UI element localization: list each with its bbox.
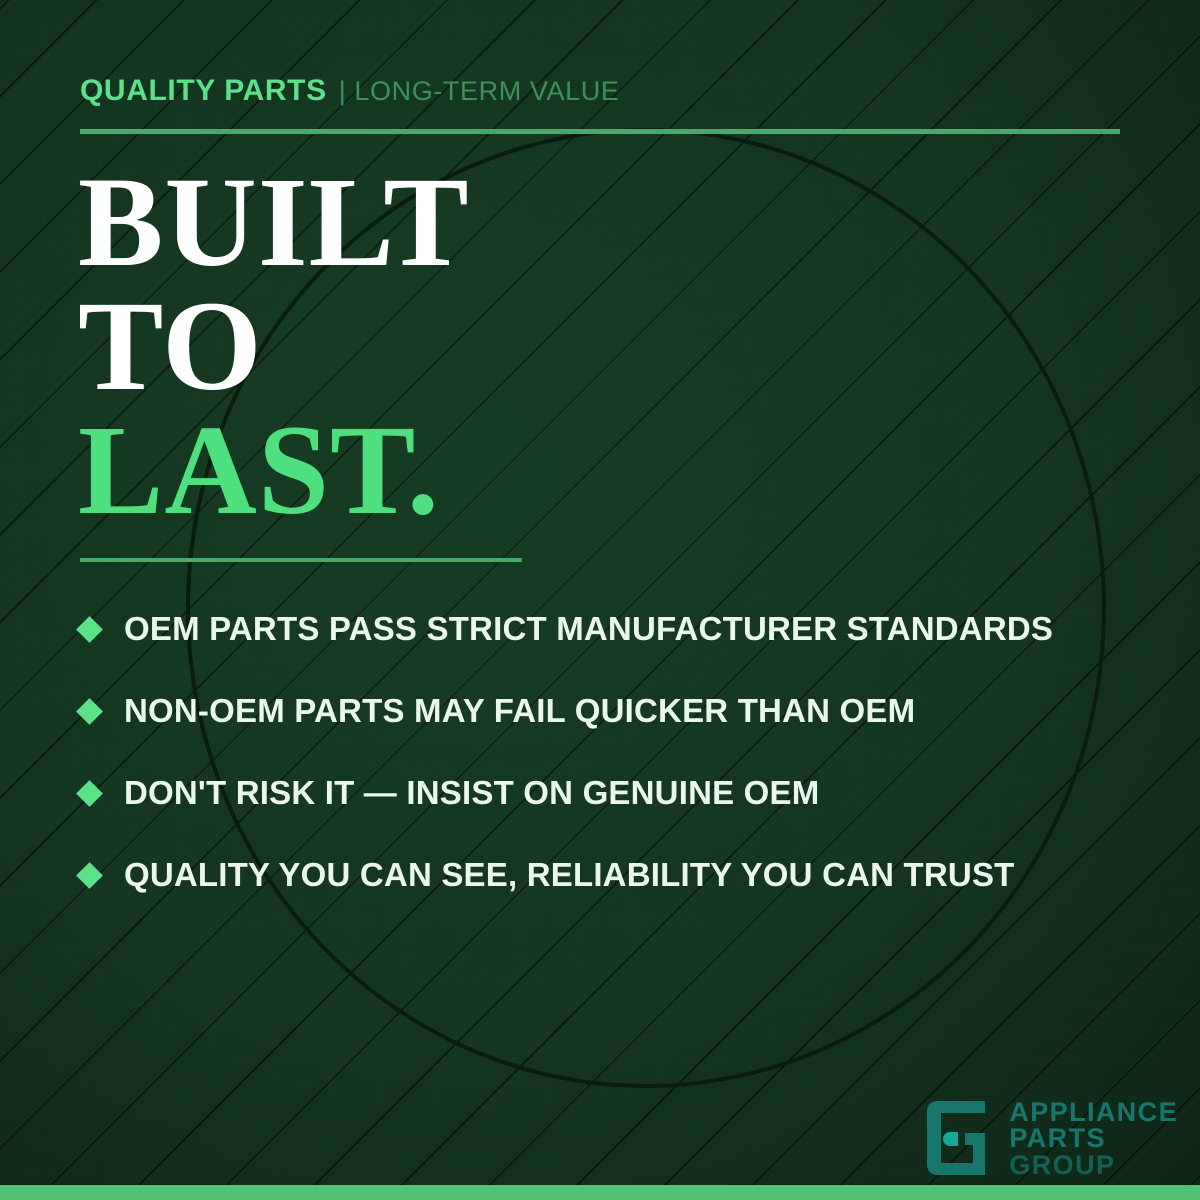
list-item-label: NON-OEM PARTS MAY FAIL QUICKER THAN OEM (124, 692, 915, 730)
brand-logo: APPLIANCE PARTS GROUP (925, 1099, 1178, 1178)
eyebrow: QUALITY PARTS | LONG-TERM VALUE (80, 74, 619, 108)
list-item: QUALITY YOU CAN SEE, RELIABILITY YOU CAN… (80, 834, 1150, 916)
eyebrow-secondary-label: | LONG-TERM VALUE (339, 76, 620, 107)
poster-canvas: QUALITY PARTS | LONG-TERM VALUE BUILT TO… (0, 0, 1200, 1200)
headline-line-3: LAST. (78, 408, 470, 532)
diamond-bullet-icon (76, 698, 103, 725)
list-item: OEM PARTS PASS STRICT MANUFACTURER STAND… (80, 588, 1150, 670)
list-item-label: DON'T RISK IT — INSIST ON GENUINE OEM (124, 774, 819, 812)
logo-word-3: GROUP (1009, 1152, 1178, 1178)
diamond-bullet-icon (76, 616, 103, 643)
headline-divider-rule (80, 558, 522, 562)
headline-line-1: BUILT (78, 160, 470, 284)
brand-logo-wordmark: APPLIANCE PARTS GROUP (1009, 1099, 1178, 1178)
eyebrow-primary-label: QUALITY PARTS (80, 74, 327, 108)
headline-line-2: TO (78, 284, 470, 408)
g-monogram-icon (925, 1099, 997, 1177)
benefits-list: OEM PARTS PASS STRICT MANUFACTURER STAND… (80, 588, 1150, 916)
logo-word-2: PARTS (1009, 1125, 1178, 1151)
diamond-bullet-icon (76, 780, 103, 807)
logo-word-1: APPLIANCE (1009, 1099, 1178, 1125)
bottom-accent-bar (0, 1185, 1200, 1200)
list-item-label: QUALITY YOU CAN SEE, RELIABILITY YOU CAN… (124, 856, 1015, 894)
list-item: DON'T RISK IT — INSIST ON GENUINE OEM (80, 752, 1150, 834)
page-title: BUILT TO LAST. (78, 160, 470, 532)
header-divider-rule (80, 129, 1120, 134)
list-item-label: OEM PARTS PASS STRICT MANUFACTURER STAND… (124, 610, 1053, 648)
diamond-bullet-icon (76, 862, 103, 889)
list-item: NON-OEM PARTS MAY FAIL QUICKER THAN OEM (80, 670, 1150, 752)
